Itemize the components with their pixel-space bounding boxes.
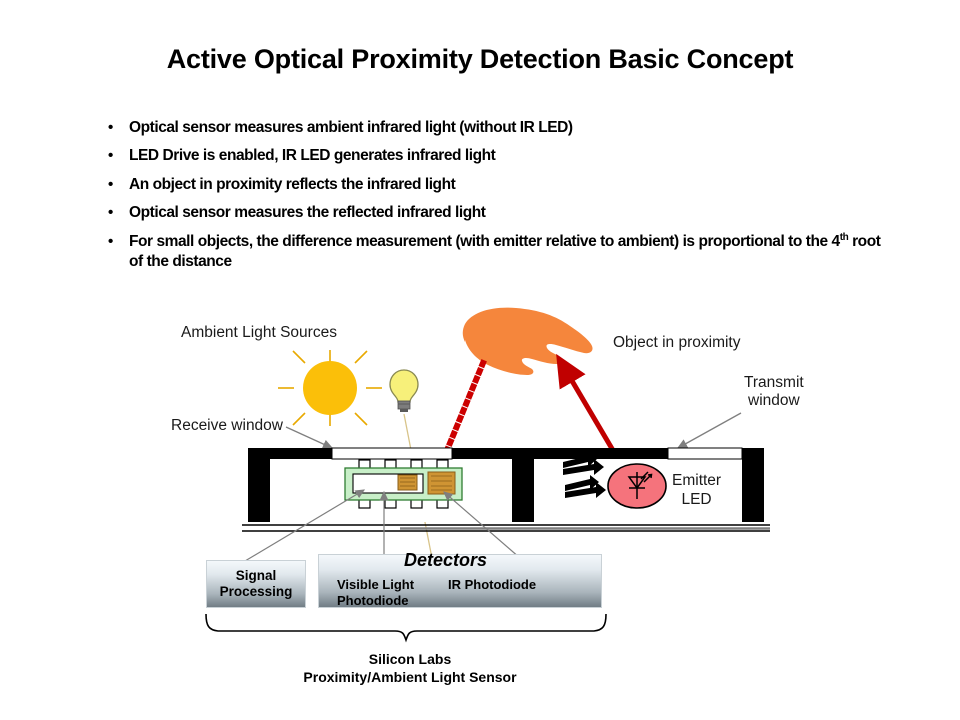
bullet-marker: • xyxy=(108,146,113,166)
curly-brace-icon xyxy=(206,614,606,640)
signal-processing-box-label: Signal Processing xyxy=(206,568,306,601)
transmit-window-label: Transmit window xyxy=(744,374,804,411)
receive-window-opening xyxy=(332,448,452,459)
bullet-marker: • xyxy=(108,203,113,223)
ambient-light-sources-label: Ambient Light Sources xyxy=(181,324,337,342)
visible-light-photodiode-label: Visible Light Photodiode xyxy=(337,577,414,608)
list-item-text: An object in proximity reflects the infr… xyxy=(129,176,455,193)
visible-photodiode-line1: Visible Light xyxy=(337,577,414,592)
ordinal-superscript: th xyxy=(840,232,849,243)
object-in-proximity-label: Object in proximity xyxy=(613,334,740,352)
list-item-text: LED Drive is enabled, IR LED generates i… xyxy=(129,147,495,164)
ir-photodiode-label: IR Photodiode xyxy=(448,577,536,592)
list-item: • LED Drive is enabled, IR LED generates… xyxy=(104,146,894,166)
bullet-marker: • xyxy=(108,175,113,195)
emitter-led-label: Emitter LED xyxy=(672,472,721,509)
lightbulb-icon xyxy=(390,370,418,412)
transmit-window-leader xyxy=(678,413,741,448)
list-item-proportionality: • For small objects, the difference meas… xyxy=(104,232,894,273)
bullet-marker: • xyxy=(108,118,113,138)
detectors-title: Detectors xyxy=(404,550,487,571)
signal-processing-line1: Signal xyxy=(236,568,277,583)
sensor-caption: Silicon Labs Proximity/Ambient Light Sen… xyxy=(200,651,620,686)
emitter-led-label-line2: LED xyxy=(681,491,711,508)
transmit-window-label-line2: window xyxy=(748,392,800,409)
emitter-led xyxy=(608,464,666,508)
transmit-window-label-line1: Transmit xyxy=(744,374,804,391)
receive-window-label: Receive window xyxy=(171,417,283,435)
emitter-led-label-line1: Emitter xyxy=(672,472,721,489)
list-item-text-before: For small objects, the difference measur… xyxy=(129,233,840,250)
ir-photodiode-die xyxy=(428,472,455,494)
signal-processing-line2: Processing xyxy=(220,584,293,599)
receive-window-leader xyxy=(286,427,332,448)
list-item-text: Optical sensor measures the reflected in… xyxy=(129,204,485,221)
caption-line1: Silicon Labs xyxy=(369,651,451,667)
bullet-list: • Optical sensor measures ambient infrar… xyxy=(104,118,894,281)
optical-isolation-barrier xyxy=(512,448,534,522)
proximity-sensor-diagram: Ambient Light Sources Receive window Obj… xyxy=(0,296,960,720)
list-item-text: Optical sensor measures ambient infrared… xyxy=(129,119,573,136)
list-item: • Optical sensor measures the reflected … xyxy=(104,203,894,223)
slide-canvas: Active Optical Proximity Detection Basic… xyxy=(0,0,960,720)
transmit-window-opening xyxy=(668,448,742,459)
list-item: • Optical sensor measures ambient infrar… xyxy=(104,118,894,138)
caption-line2: Proximity/Ambient Light Sensor xyxy=(303,669,516,685)
page-title: Active Optical Proximity Detection Basic… xyxy=(0,44,960,75)
sun-icon xyxy=(278,350,382,426)
enclosure-left-wall xyxy=(248,448,270,522)
list-item: • An object in proximity reflects the in… xyxy=(104,175,894,195)
visible-photodiode-line2: Photodiode xyxy=(337,593,409,608)
visible-light-photodiode-die xyxy=(398,475,417,490)
bullet-marker: • xyxy=(108,232,113,252)
enclosure-top-wall-middle xyxy=(452,448,668,459)
enclosure-right-wall xyxy=(742,448,764,522)
